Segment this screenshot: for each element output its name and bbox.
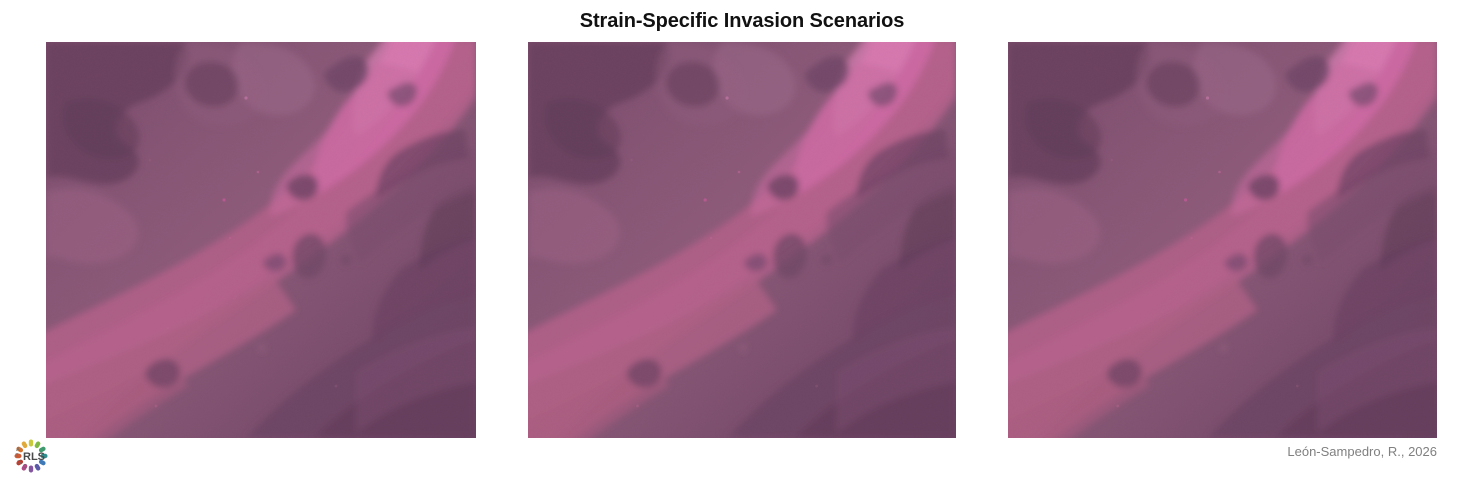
rls-logo[interactable]: RLS A T G C [8,436,54,476]
logo-wordmark: RLS [23,451,45,463]
author-credit: León-Sampedro, R., 2026 [1287,444,1437,459]
figure-canvas: Strain-Specific Invasion Scenarios [0,0,1484,480]
heatmap-panel-1[interactable] [46,42,476,438]
heatmap-panel-3[interactable] [1008,42,1437,438]
heatmap-surface-3 [1008,42,1437,438]
heatmap-surface-2 [528,42,956,438]
heatmap-panel-2[interactable] [528,42,956,438]
logo-base-g: G [17,460,21,466]
page-title: Strain-Specific Invasion Scenarios [0,7,1484,35]
logo-base-c: C [23,464,27,470]
rls-logo-mark: RLS A T G C [8,436,54,476]
heatmap-surface-1 [46,42,476,438]
